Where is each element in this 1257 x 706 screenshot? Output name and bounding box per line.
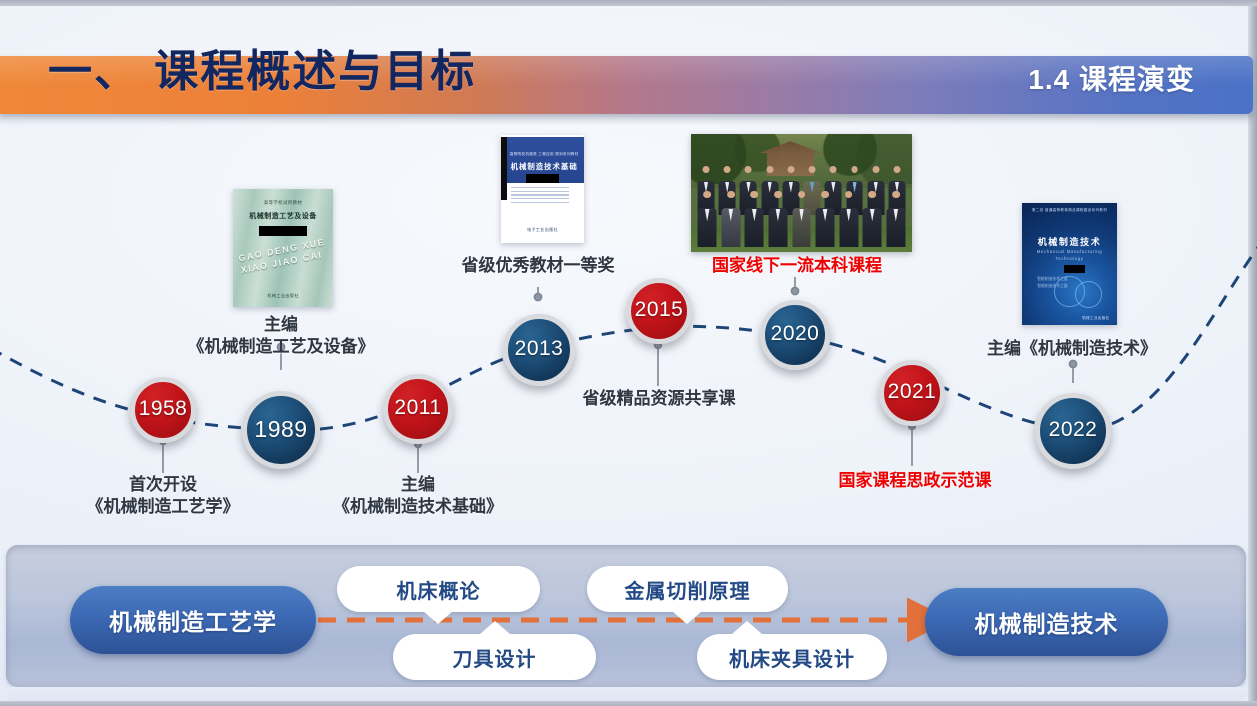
caption-1989-line1: 主编 [161, 314, 401, 336]
caption-1989: 主编 《机械制造工艺及设备》 [161, 314, 401, 359]
timeline-node-2022-year: 2022 [1049, 418, 1098, 442]
pointer-jinshuqiexiao [672, 611, 702, 624]
flow-end-pill[interactable]: 机械制造技术 [925, 588, 1168, 656]
book3-publisher: 机械工业出版社 [1082, 316, 1109, 321]
timeline-node-2021-year: 2021 [888, 380, 937, 404]
team-group-photo [691, 134, 912, 252]
pointer-daojusheji [480, 621, 510, 634]
slide-root: 一、 课程概述与目标 1.4 课程演变 高等学校试用教材 机械制造工艺及设备 G… [0, 0, 1257, 706]
flow-item-jichuanggailun-label: 机床概论 [397, 575, 481, 604]
book1-pinyin: GAO DENG XUE XIAO JIAO CAI [237, 236, 328, 277]
caption-2011-line1: 主编 [308, 474, 528, 496]
bottom-chrome-bar [0, 701, 1257, 706]
caption-2020-line1: 国家线下一流本科课程 [702, 255, 892, 277]
flow-item-daojusheji-label: 刀具设计 [453, 643, 537, 672]
book1-title: 机械制造工艺及设备 [233, 211, 333, 221]
book1-publisher: 机械工业出版社 [233, 293, 333, 299]
book3-subtitle-en: Mechanical Manufacturing Technology [1022, 249, 1117, 262]
caption-2021: 国家课程思政示范课 [830, 470, 1000, 492]
book3-title: 机械制造技术 [1022, 235, 1117, 248]
flow-panel-footer-strip [6, 687, 1246, 701]
timeline-node-2015-year: 2015 [635, 298, 684, 322]
caption-2013: 省级优秀教材一等奖 [447, 255, 629, 277]
timeline-node-2013[interactable]: 2013 [503, 314, 575, 386]
timeline-node-2020-year: 2020 [771, 322, 820, 346]
book3-redaction-bar [1064, 265, 1085, 272]
caption-2022-line1: 主编《机械制造技术》 [972, 338, 1172, 360]
timeline-node-2013-year: 2013 [515, 337, 564, 361]
caption-2013-line1: 省级优秀教材一等奖 [447, 255, 629, 277]
caption-2022: 主编《机械制造技术》 [972, 338, 1172, 360]
caption-1958: 首次开设 《机械制造工艺学》 [63, 474, 263, 519]
timeline-node-1989-year: 1989 [254, 416, 307, 443]
caption-1958-line2: 《机械制造工艺学》 [63, 496, 263, 518]
book3-series: 第二批 普通高等教育精品课程建设系列教材 [1022, 208, 1117, 213]
flow-start-label: 机械制造工艺学 [109, 603, 277, 637]
book2-title: 机械制造技术基础 [509, 161, 579, 172]
flow-start-pill[interactable]: 机械制造工艺学 [70, 586, 316, 654]
book-cover-1: 高等学校试用教材 机械制造工艺及设备 GAO DENG XUE XIAO JIA… [233, 189, 333, 307]
header-underglow [0, 114, 1253, 126]
timeline-node-2020[interactable]: 2020 [760, 300, 830, 370]
pointer-jichuangjiajusheji [732, 621, 762, 634]
flow-item-jichuanggailun[interactable]: 机床概论 [337, 566, 540, 612]
timeline-node-2015[interactable]: 2015 [626, 278, 692, 344]
caption-2015-line1: 省级精品资源共享课 [574, 388, 744, 410]
flow-end-label: 机械制造技术 [975, 605, 1119, 639]
book1-redaction-bar [259, 226, 307, 237]
book2-blurb-lines [511, 187, 569, 206]
book-cover-3: 第二批 普通高等教育精品课程建设系列教材 机械制造技术 Mechanical M… [1022, 203, 1117, 325]
flow-item-jichuangjiajusheji-label: 机床夹具设计 [729, 643, 855, 672]
pointer-jichuanggailun [423, 611, 453, 624]
book2-redaction-bar [526, 174, 559, 183]
timeline-node-2021[interactable]: 2021 [879, 360, 945, 426]
caption-2015: 省级精品资源共享课 [574, 388, 744, 410]
timeline-node-2022[interactable]: 2022 [1035, 393, 1111, 469]
book2-publisher: 电子工业出版社 [501, 227, 584, 233]
book3-bullets: 智能制造技术之道 智能制造技术之器 [1037, 276, 1094, 290]
flow-item-jichuangjiajusheji[interactable]: 机床夹具设计 [697, 634, 887, 680]
timeline-node-1958[interactable]: 1958 [130, 377, 196, 443]
flow-item-jinshuqiexiao[interactable]: 金属切削原理 [587, 566, 788, 612]
caption-2011: 主编 《机械制造技术基础》 [308, 474, 528, 519]
book-cover-2: 高等院校机械类 工程应用 规划系列教材 机械制造技术基础 电子工业出版社 [501, 135, 584, 243]
caption-2021-line1: 国家课程思政示范课 [830, 470, 1000, 492]
timeline-node-1958-year: 1958 [139, 397, 188, 421]
timeline-node-2011[interactable]: 2011 [383, 374, 453, 444]
timeline-node-2011-year: 2011 [394, 396, 441, 420]
photo-front-row [691, 191, 912, 248]
flow-item-daojusheji[interactable]: 刀具设计 [393, 634, 596, 680]
flow-item-jinshuqiexiao-label: 金属切削原理 [625, 575, 751, 604]
page-title: 一、 课程概述与目标 [48, 50, 476, 94]
caption-1958-line1: 首次开设 [63, 474, 263, 496]
caption-2011-line2: 《机械制造技术基础》 [308, 496, 528, 518]
timeline-node-1989[interactable]: 1989 [242, 391, 320, 469]
caption-2020: 国家线下一流本科课程 [702, 255, 892, 277]
top-chrome-bar [0, 0, 1257, 6]
caption-1989-line2: 《机械制造工艺及设备》 [161, 336, 401, 358]
section-subtitle: 1.4 课程演变 [1028, 66, 1195, 94]
book1-series: 高等学校试用教材 [233, 200, 333, 206]
book2-spine [501, 137, 507, 200]
book2-series: 高等院校机械类 工程应用 规划系列教材 [509, 152, 579, 157]
